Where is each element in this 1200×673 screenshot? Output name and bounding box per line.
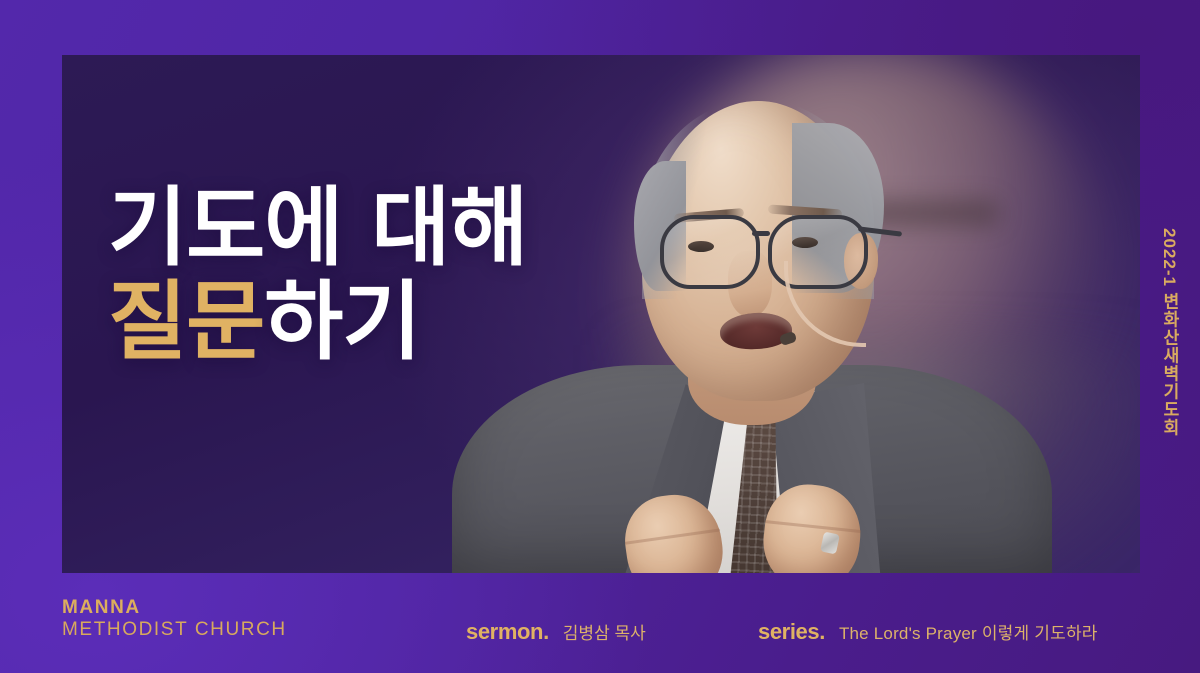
sermon-speaker-name: 김병삼 목사 bbox=[563, 619, 646, 644]
church-brand: MANNA METHODIST CHURCH bbox=[62, 597, 287, 641]
speaker-figure bbox=[492, 65, 1012, 573]
sermon-label: sermon. bbox=[466, 619, 549, 645]
series-label: series. bbox=[758, 619, 825, 645]
event-vertical-label: 2022-1 변화산새벽기도회 bbox=[1157, 228, 1182, 437]
title-line-2: 질문하기 bbox=[108, 280, 528, 364]
knuckle-line bbox=[625, 528, 720, 544]
title-accent-word: 질문 bbox=[108, 272, 264, 372]
brand-name: MANNA bbox=[62, 597, 287, 619]
series-meta: series. The Lord's Prayer 이렇게 기도하라 bbox=[758, 619, 1098, 645]
brand-subtitle: METHODIST CHURCH bbox=[62, 619, 287, 641]
series-title: The Lord's Prayer 이렇게 기도하라 bbox=[839, 619, 1098, 644]
sermon-title: 기도에 대해 질문하기 bbox=[108, 186, 528, 365]
poster-footer: MANNA METHODIST CHURCH sermon. 김병삼 목사 se… bbox=[0, 573, 1200, 673]
title-line-1: 기도에 대해 bbox=[108, 186, 528, 270]
title-plain-word: 하기 bbox=[264, 272, 420, 372]
sermon-poster: 기도에 대해 질문하기 2022-1 변화산새벽기도회 MANNA METHOD… bbox=[0, 0, 1200, 673]
knuckle-line bbox=[765, 520, 861, 533]
sermon-meta: sermon. 김병삼 목사 bbox=[466, 619, 646, 645]
eyeglass-lens-left bbox=[660, 215, 760, 289]
eyeglass-bridge bbox=[752, 231, 770, 236]
